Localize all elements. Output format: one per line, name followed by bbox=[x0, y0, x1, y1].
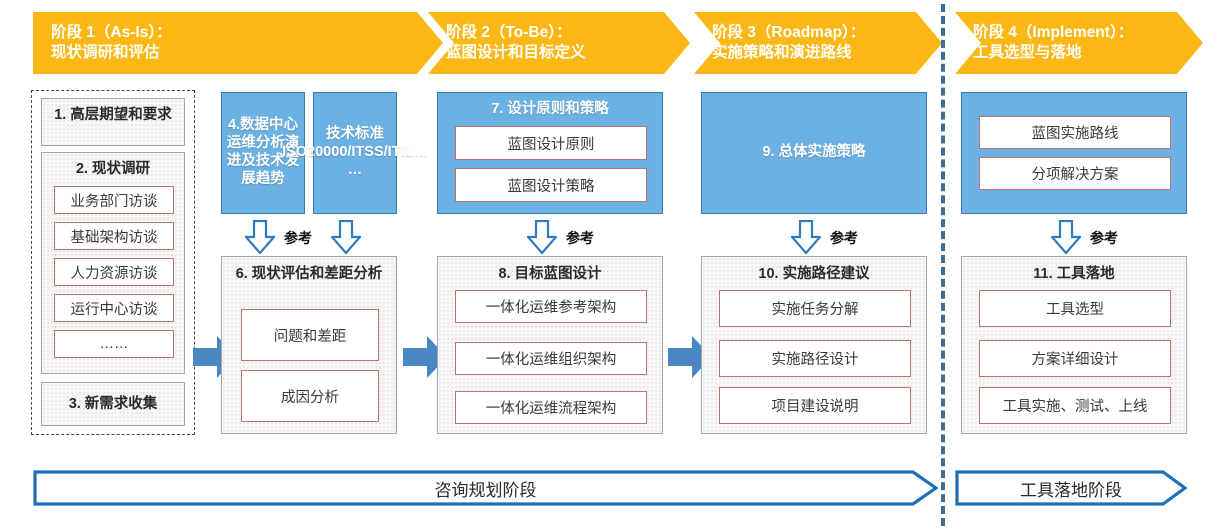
col3-blue-panel-7-item-2[interactable]: 蓝图设计策略 bbox=[455, 168, 647, 202]
col5-panel-11-item-3[interactable]: 工具实施、测试、上线 bbox=[979, 387, 1171, 424]
col2-panel-6-item-2[interactable]: 成因分析 bbox=[241, 370, 379, 422]
reference-down-arrow-col5 bbox=[1051, 220, 1081, 254]
col4-blue-panel-9[interactable]: 9. 总体实施策略 bbox=[701, 92, 927, 214]
col3-panel-8-item-1[interactable]: 一体化运维参考架构 bbox=[455, 290, 647, 323]
phase-header-3-line1: 阶段 3（Roadmap）： bbox=[712, 23, 932, 43]
phase-header-2-line2: 蓝图设计和目标定义 bbox=[446, 43, 680, 63]
phase-header-4: 阶段 4（Implement）： 工具选型与落地 bbox=[955, 12, 1203, 74]
col1-box-2-item-4[interactable]: 运行中心访谈 bbox=[54, 294, 174, 322]
phase-header-3-line2: 实施策略和演进路线 bbox=[712, 43, 932, 63]
col2-blue-box-right-label: 技术标准ISO20000/ITSS/ITIL… … bbox=[318, 93, 392, 213]
col5-panel-11-item-1[interactable]: 工具选型 bbox=[979, 290, 1171, 327]
col1-box-1[interactable]: 1. 高层期望和要求 bbox=[41, 98, 185, 146]
reference-label-col4: 参考 bbox=[830, 228, 858, 248]
col5-blue-panel-item-2[interactable]: 分项解决方案 bbox=[979, 157, 1171, 190]
col3-blue-panel-7-title: 7. 设计原则和策略 bbox=[438, 100, 662, 118]
phase-header-4-line2: 工具选型与落地 bbox=[973, 43, 1193, 63]
phase-header-1-line2: 现状调研和评估 bbox=[51, 43, 433, 63]
col3-panel-8[interactable]: 8. 目标蓝图设计 一体化运维参考架构 一体化运维组织架构 一体化运维流程架构 bbox=[437, 256, 663, 434]
col2-panel-6[interactable]: 6. 现状评估和差距分析 问题和差距 成因分析 bbox=[221, 256, 397, 434]
col1-box-2-item-1[interactable]: 业务部门访谈 bbox=[54, 186, 174, 214]
col2-panel-6-item-1[interactable]: 问题和差距 bbox=[241, 309, 379, 361]
reference-down-arrow-col2-left bbox=[245, 220, 275, 254]
banner-consulting-planning-stage-label: 咨询规划阶段 bbox=[435, 476, 537, 501]
col4-panel-10-title: 10. 实施路径建议 bbox=[702, 265, 926, 283]
banner-consulting-planning-stage[interactable]: 咨询规划阶段 bbox=[33, 470, 938, 506]
col1-box-3-title: 3. 新需求收集 bbox=[42, 395, 184, 413]
phase-header-2: 阶段 2（To-Be）： 蓝图设计和目标定义 bbox=[428, 12, 690, 74]
reference-label-col5: 参考 bbox=[1090, 228, 1118, 248]
col5-panel-11[interactable]: 11. 工具落地 工具选型 方案详细设计 工具实施、测试、上线 bbox=[961, 256, 1187, 434]
col4-panel-10[interactable]: 10. 实施路径建议 实施任务分解 实施路径设计 项目建设说明 bbox=[701, 256, 927, 434]
col3-blue-panel-7[interactable]: 7. 设计原则和策略 蓝图设计原则 蓝图设计策略 bbox=[437, 92, 663, 214]
phase-header-1-line1: 阶段 1（As-Is）： bbox=[51, 23, 433, 43]
reference-down-arrow-col3 bbox=[527, 220, 557, 254]
col2-blue-box-right[interactable]: 技术标准ISO20000/ITSS/ITIL… … bbox=[313, 92, 397, 214]
phase-header-3: 阶段 3（Roadmap）： 实施策略和演进路线 bbox=[694, 12, 942, 74]
col1-box-2-item-5[interactable]: …… bbox=[54, 330, 174, 358]
col4-panel-10-item-2[interactable]: 实施路径设计 bbox=[719, 340, 911, 377]
reference-label-col3: 参考 bbox=[566, 228, 594, 248]
col4-blue-panel-9-title: 9. 总体实施策略 bbox=[706, 93, 922, 213]
col3-panel-8-title: 8. 目标蓝图设计 bbox=[438, 265, 662, 283]
col5-panel-11-title: 11. 工具落地 bbox=[962, 265, 1186, 283]
col3-panel-8-item-2[interactable]: 一体化运维组织架构 bbox=[455, 342, 647, 375]
phase-group-divider bbox=[941, 4, 945, 526]
reference-down-arrow-col2-right bbox=[331, 220, 361, 254]
col5-blue-panel-item-1[interactable]: 蓝图实施路线 bbox=[979, 116, 1171, 149]
phase-header-1: 阶段 1（As-Is）： 现状调研和评估 bbox=[33, 12, 443, 74]
col4-panel-10-item-1[interactable]: 实施任务分解 bbox=[719, 290, 911, 327]
col2-panel-6-title: 6. 现状评估和差距分析 bbox=[222, 265, 396, 283]
phase-header-4-line1: 阶段 4（Implement）： bbox=[973, 23, 1193, 43]
banner-tool-implementation-stage-label: 工具落地阶段 bbox=[1020, 476, 1122, 501]
col4-panel-10-item-3[interactable]: 项目建设说明 bbox=[719, 387, 911, 424]
phase-header-2-line1: 阶段 2（To-Be）： bbox=[446, 23, 680, 43]
reference-down-arrow-col4 bbox=[791, 220, 821, 254]
col1-box-3[interactable]: 3. 新需求收集 bbox=[41, 382, 185, 426]
col3-panel-8-item-3[interactable]: 一体化运维流程架构 bbox=[455, 391, 647, 424]
col1-box-2-item-2[interactable]: 基础架构访谈 bbox=[54, 222, 174, 250]
col1-box-2-item-3[interactable]: 人力资源访谈 bbox=[54, 258, 174, 286]
col1-box-2[interactable]: 2. 现状调研 业务部门访谈 基础架构访谈 人力资源访谈 运行中心访谈 …… bbox=[41, 152, 185, 374]
col5-blue-panel[interactable]: 蓝图实施路线 分项解决方案 bbox=[961, 92, 1187, 214]
reference-label-col2: 参考 bbox=[284, 228, 312, 248]
banner-tool-implementation-stage[interactable]: 工具落地阶段 bbox=[955, 470, 1187, 506]
col1-box-2-title: 2. 现状调研 bbox=[42, 160, 184, 178]
col5-panel-11-item-2[interactable]: 方案详细设计 bbox=[979, 340, 1171, 377]
col3-blue-panel-7-item-1[interactable]: 蓝图设计原则 bbox=[455, 126, 647, 160]
process-flow-diagram: 阶段 1（As-Is）： 现状调研和评估 阶段 2（To-Be）： 蓝图设计和目… bbox=[0, 0, 1217, 530]
col1-box-1-title: 1. 高层期望和要求 bbox=[42, 106, 184, 124]
